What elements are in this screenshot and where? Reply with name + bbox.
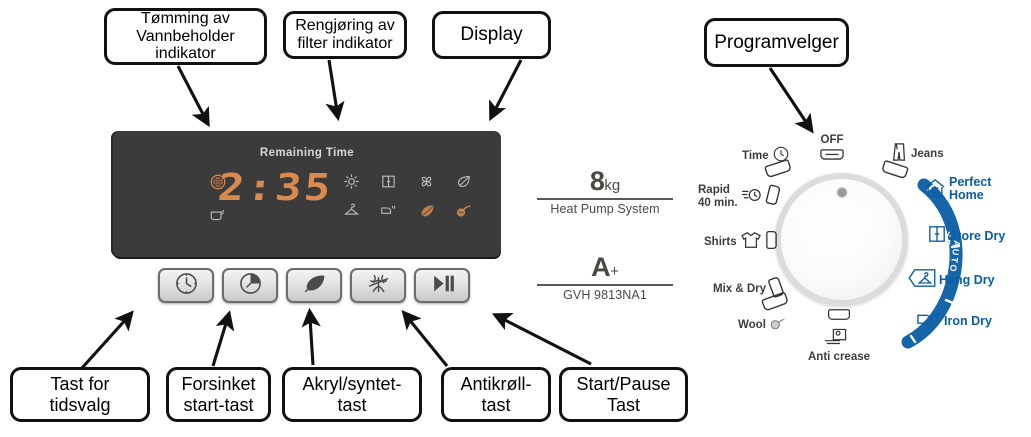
callout-water-tank-indicator: Tømming av Vannbeholder indikator bbox=[104, 8, 267, 65]
remaining-time-value: 2:35 bbox=[209, 169, 335, 206]
callout-program-selector: Programvelger bbox=[704, 18, 849, 67]
delayed-start-button[interactable] bbox=[222, 268, 278, 303]
wool-basket-icon bbox=[769, 314, 787, 335]
energy-unit: + bbox=[610, 263, 619, 280]
callout-line: Tømming av bbox=[136, 10, 234, 28]
callout-line: Vannbeholder bbox=[136, 28, 234, 46]
clock-icon bbox=[174, 271, 199, 301]
dial-label: Wool bbox=[738, 319, 766, 331]
sun-icon bbox=[343, 173, 363, 193]
program-selector-dial[interactable]: AUTO SENSOR AUTO SENSOR OFF Time bbox=[680, 128, 1031, 380]
arrow-display bbox=[494, 60, 521, 112]
feather-icon bbox=[418, 202, 438, 222]
garment-icon bbox=[766, 184, 781, 209]
dial-program-hang-dry[interactable]: Hang Dry bbox=[908, 268, 995, 291]
acrylic-synthetic-button[interactable] bbox=[286, 268, 342, 303]
energy-value: A bbox=[591, 252, 610, 282]
callout-start-pause-key: Start/Pause Tast bbox=[559, 367, 688, 422]
button-row bbox=[158, 268, 470, 303]
dial-indicator-dot bbox=[836, 187, 847, 198]
model-code: GVH 9813NA1 bbox=[537, 288, 673, 302]
dial-program-iron-dry[interactable]: Iron Dry bbox=[917, 311, 992, 330]
arrow-filter-clean bbox=[329, 60, 337, 111]
leaf-icon bbox=[455, 173, 475, 193]
wool-icon bbox=[455, 202, 475, 222]
capacity-value: 8 bbox=[590, 166, 605, 196]
dial-label-multiline: PerfectHome bbox=[949, 176, 991, 202]
callout-filter-clean-indicator: Rengjøring av filter indikator bbox=[283, 11, 407, 59]
callout-line: filter indikator bbox=[295, 35, 395, 53]
dial-program-off[interactable]: OFF bbox=[820, 134, 844, 164]
iron-steam-icon bbox=[380, 202, 400, 222]
dial-label: Jeans bbox=[911, 148, 944, 160]
house-gear-icon bbox=[924, 178, 946, 201]
anti-crease-steam-icon bbox=[824, 325, 854, 350]
callout-line: Programvelger bbox=[714, 32, 839, 53]
dial-label: Hang Dry bbox=[939, 273, 995, 287]
callout-acrylic-key: Akryl/syntet- tast bbox=[282, 367, 422, 422]
callout-line: Rengjøring av bbox=[295, 17, 395, 35]
dial-label: Shirts bbox=[704, 236, 737, 248]
callout-anticrease-key: Antikrøll- tast bbox=[441, 367, 551, 422]
callout-time-key: Tast for tidsvalg bbox=[10, 367, 150, 422]
dial-label: Time bbox=[742, 150, 769, 162]
callout-delayed-start-key: Forsinket start-tast bbox=[166, 367, 271, 422]
arrow-acrylic bbox=[310, 318, 313, 365]
folded-laundry-icon bbox=[882, 162, 908, 182]
folded-laundry-icon bbox=[820, 147, 844, 164]
anti-crease-button[interactable] bbox=[350, 268, 406, 303]
feather-icon bbox=[302, 271, 327, 301]
arrow-delayed-start bbox=[213, 320, 227, 366]
capacity-value-row: 8kg bbox=[537, 166, 673, 197]
callout-line: Start/Pause bbox=[576, 374, 670, 394]
capacity-unit: kg bbox=[604, 177, 620, 194]
dial-program-shirts[interactable]: Shirts bbox=[704, 229, 778, 254]
callout-line: tast bbox=[302, 395, 401, 415]
time-select-button[interactable] bbox=[158, 268, 214, 303]
dial-program-wool[interactable]: Wool bbox=[738, 314, 787, 335]
program-indicator-group bbox=[334, 173, 484, 222]
folded-laundry-icon bbox=[827, 308, 851, 324]
dial-program-rapid-40[interactable]: Rapid40 min. bbox=[698, 184, 781, 209]
appliance-control-panel-diagram: Tømming av Vannbeholder indikator Rengjø… bbox=[0, 0, 1031, 437]
capacity-spec: 8kg Heat Pump System bbox=[537, 166, 673, 216]
arrow-program-selector bbox=[770, 68, 808, 125]
hanger-box-icon bbox=[908, 268, 936, 291]
divider bbox=[537, 284, 673, 286]
callout-line: start-tast bbox=[181, 395, 255, 415]
dial-label: Iron Dry bbox=[944, 314, 992, 328]
dial-program-anti-crease[interactable]: Anti crease bbox=[808, 308, 870, 363]
dial-label: Anti crease bbox=[808, 351, 870, 363]
callout-line: Tast for bbox=[49, 374, 110, 394]
callout-line: indikator bbox=[136, 45, 234, 63]
folded-laundry-icon bbox=[765, 161, 791, 181]
cupboard-icon bbox=[928, 225, 946, 246]
dial-knob[interactable] bbox=[775, 173, 908, 306]
energy-value-row: A+ bbox=[537, 252, 673, 283]
dial-program-store-dry[interactable]: Store Dry bbox=[928, 225, 1005, 246]
arrow-anticrease bbox=[408, 318, 447, 366]
time-display: 2:35 bbox=[211, 169, 314, 206]
callout-line: Akryl/syntet- bbox=[302, 374, 401, 394]
dial-program-perfect-home[interactable]: PerfectHome bbox=[924, 176, 991, 202]
dial-label: OFF bbox=[821, 134, 844, 146]
callout-line: Forsinket bbox=[181, 374, 255, 394]
remaining-time-label: Remaining Time bbox=[113, 147, 501, 159]
capacity-caption: Heat Pump System bbox=[537, 202, 673, 216]
dial-label: Store Dry bbox=[949, 229, 1005, 243]
energy-spec: A+ GVH 9813NA1 bbox=[537, 252, 673, 302]
shirt-icon bbox=[740, 231, 762, 252]
callout-line: tast bbox=[461, 395, 532, 415]
garment-icon bbox=[765, 229, 778, 254]
control-panel-face: Remaining Time 2:35 bbox=[113, 131, 501, 257]
callout-line: Antikrøll- bbox=[461, 374, 532, 394]
start-pause-button[interactable] bbox=[414, 268, 470, 303]
iron-steam-icon bbox=[917, 311, 941, 330]
play-pause-icon bbox=[430, 271, 455, 301]
water-tank-indicator-icon bbox=[209, 206, 229, 226]
arrow-time-key bbox=[82, 318, 127, 368]
fan-icon bbox=[418, 173, 438, 193]
callout-line: Display bbox=[460, 24, 522, 45]
callout-line: Tast bbox=[576, 395, 670, 415]
divider bbox=[537, 198, 673, 200]
arrow-water-tank bbox=[178, 66, 205, 118]
pie-clock-icon bbox=[238, 271, 263, 301]
anti-crease-icon bbox=[366, 271, 391, 301]
hanger-icon bbox=[343, 202, 363, 222]
rapid-clock-icon bbox=[741, 186, 763, 207]
dial-label: Mix & Dry bbox=[713, 283, 766, 295]
callout-display: Display bbox=[432, 11, 551, 59]
dial-label-multiline: Rapid40 min. bbox=[698, 184, 738, 208]
arrow-start-pause bbox=[501, 318, 591, 364]
cupboard-dry-icon bbox=[380, 173, 400, 193]
folded-laundry-icon bbox=[762, 294, 788, 314]
callout-line: tidsvalg bbox=[49, 395, 110, 415]
